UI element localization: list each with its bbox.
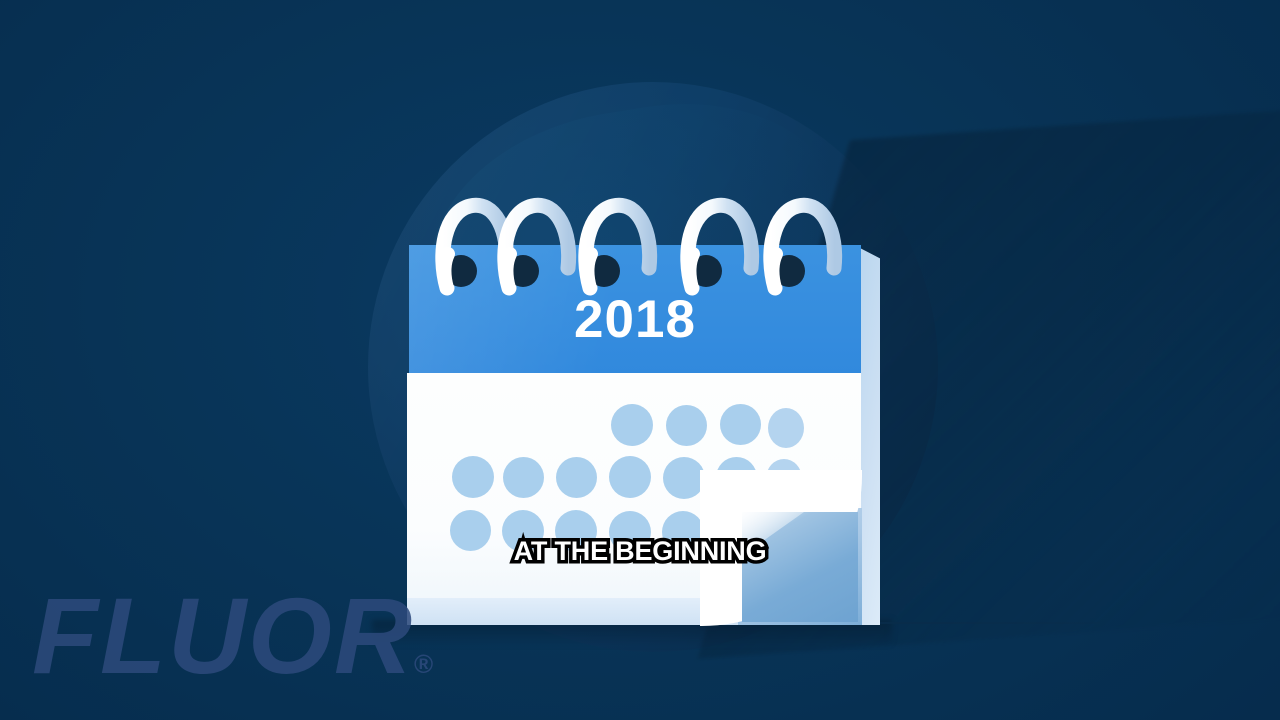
fluor-logo-watermark: FLUOR® [32,582,433,690]
spiral-ring [688,205,752,288]
spiral-ring [505,205,569,288]
subtitle-caption: AT THE BEGINNING [0,536,1280,567]
spiral-ring [443,205,507,288]
spiral-ring [771,205,835,288]
fluor-wordmark: FLUOR [32,575,414,696]
spiral-ring [586,205,650,288]
registered-trademark-icon: ® [414,649,433,679]
video-frame: 2018 [0,0,1280,720]
